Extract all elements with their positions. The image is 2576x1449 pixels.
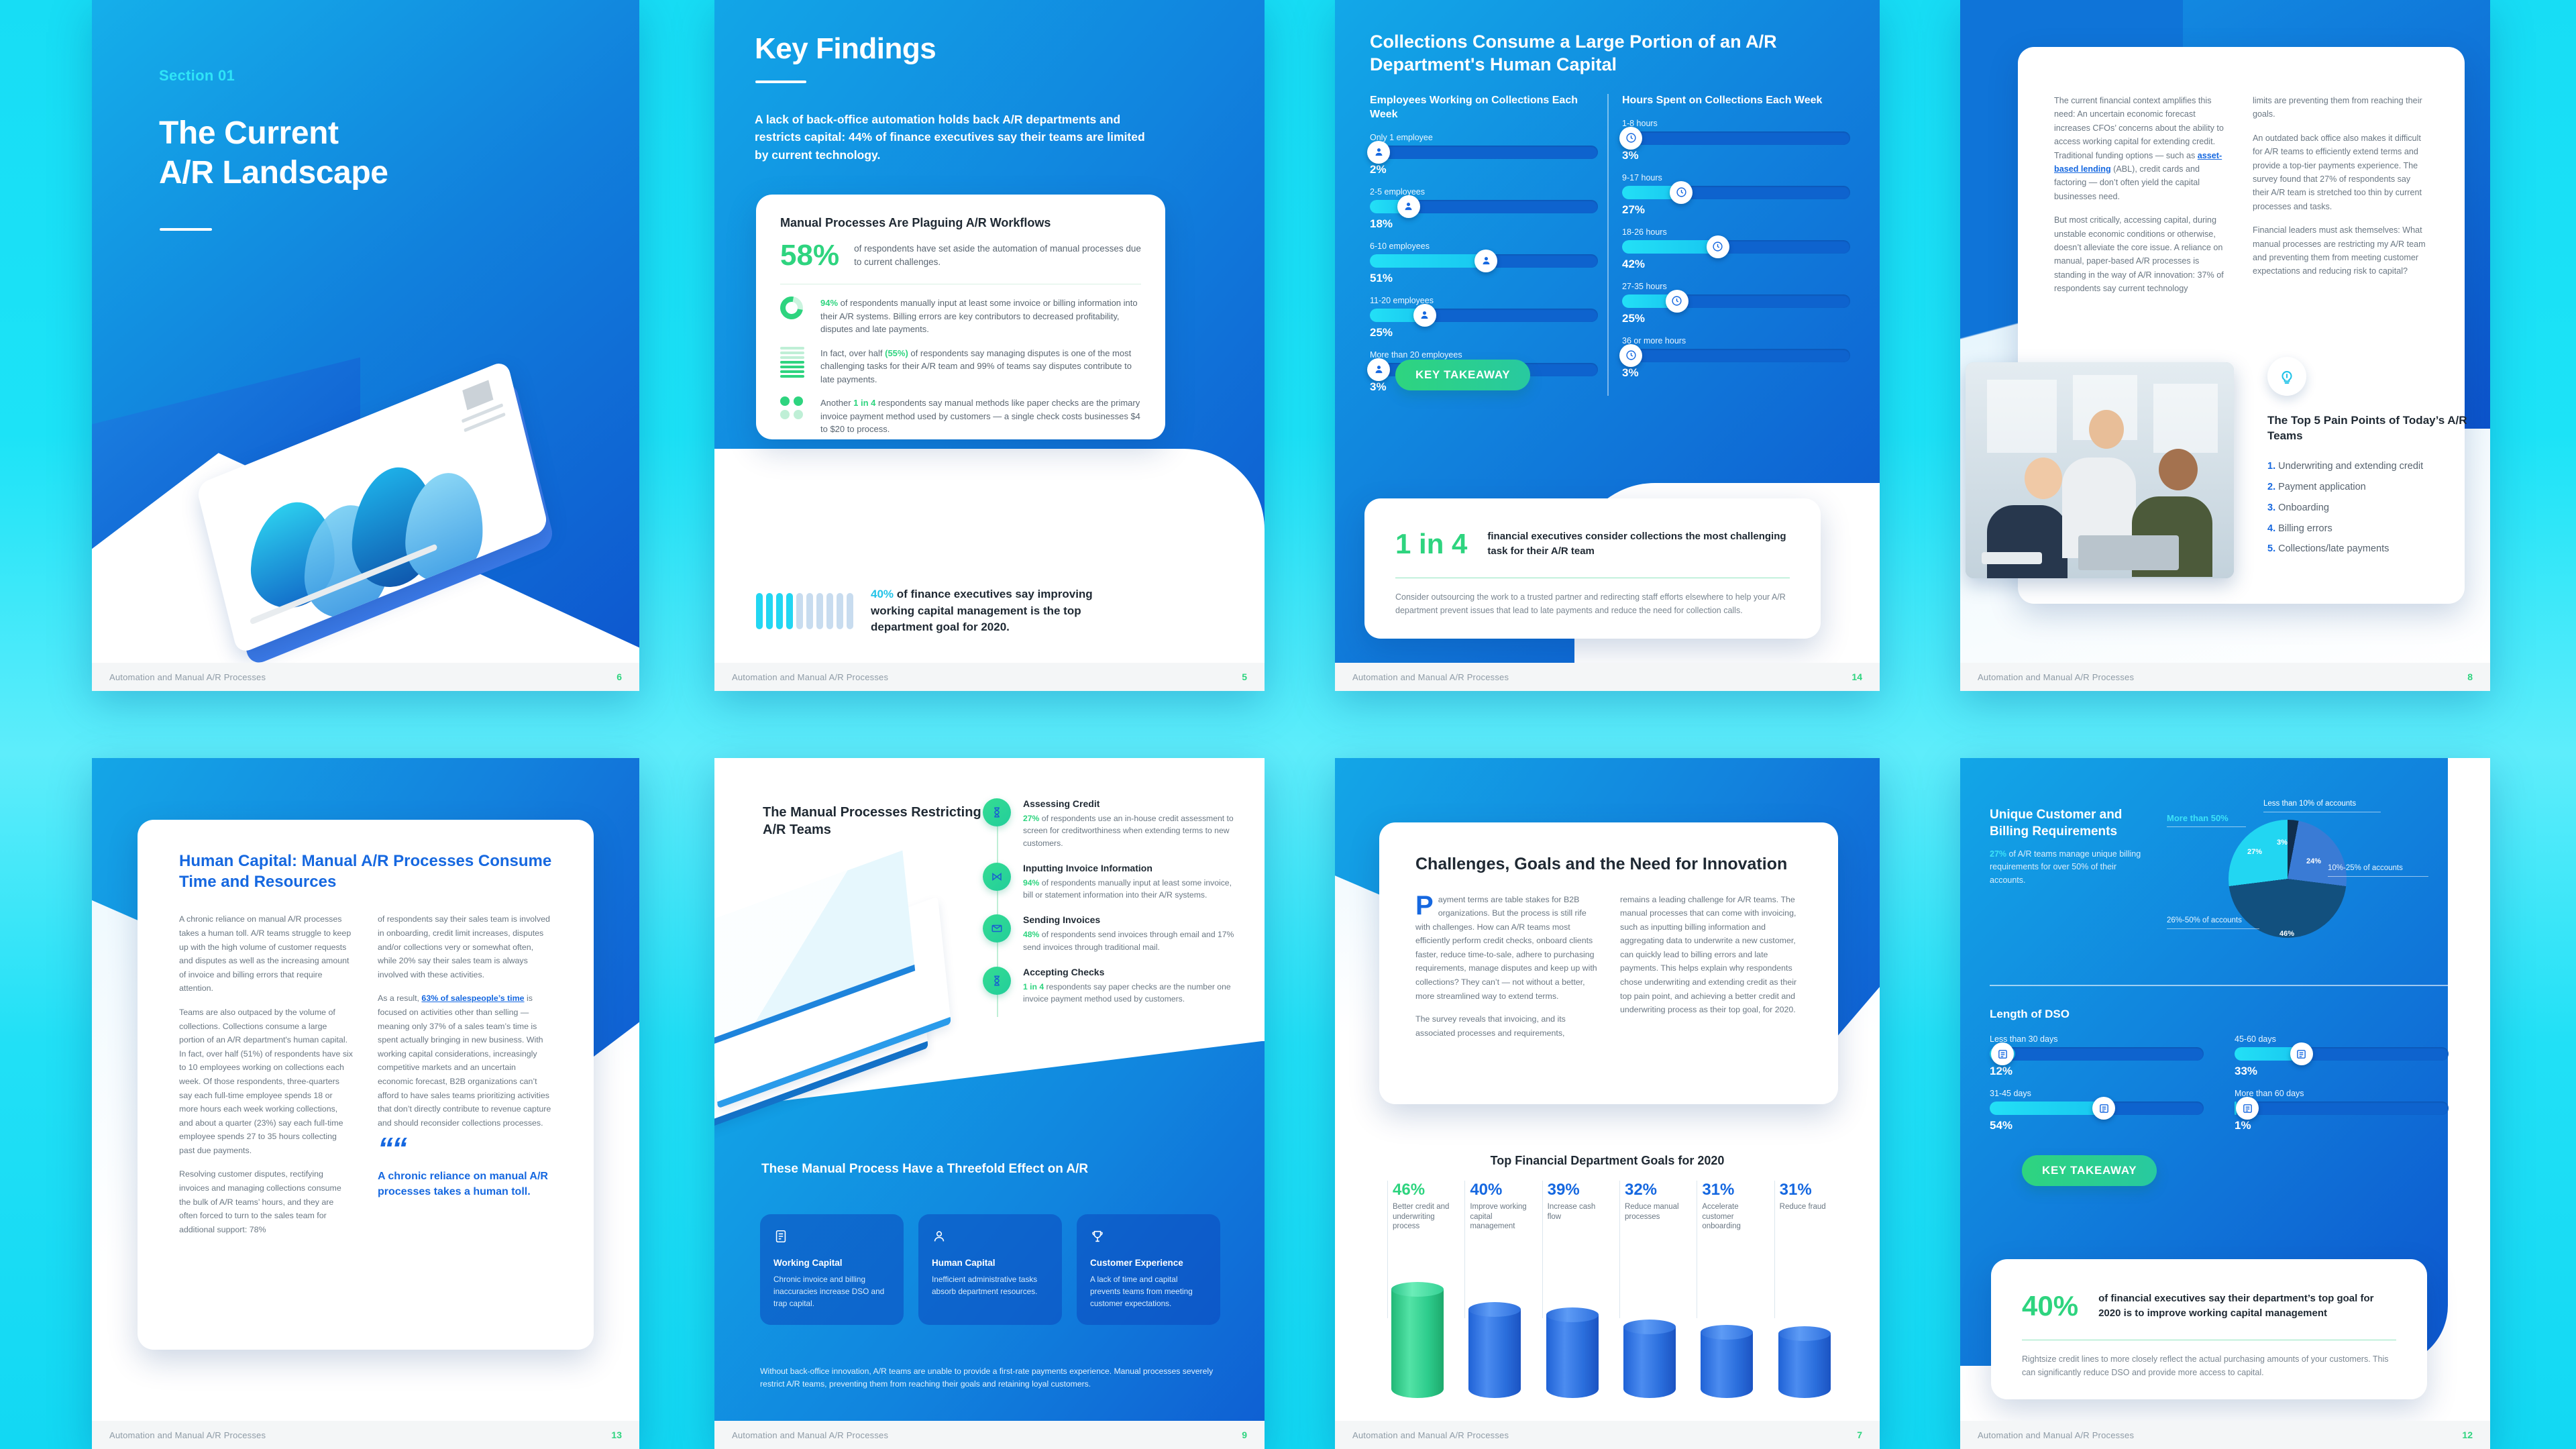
slider-label: 31-45 days	[1990, 1089, 2204, 1098]
takeaway-note: Rightsize credit lines to more closely r…	[2022, 1352, 2396, 1379]
process-step: Assessing Credit 27% of respondents use …	[983, 798, 1238, 849]
paragraph-prefix: As a result,	[378, 994, 421, 1003]
slider-track[interactable]	[1622, 349, 1850, 362]
lightbulb-icon	[2267, 357, 2306, 396]
list-item-label: Collections/late payments	[2278, 543, 2389, 554]
page-the-current-ar-landscape: Section 01 The Current A/R Landscape Aut…	[92, 0, 639, 691]
document-icon	[773, 1229, 890, 1247]
slider-row: More than 60 days 1%	[2235, 1089, 2449, 1132]
footer-label: Automation and Manual A/R Processes	[109, 672, 266, 682]
step-heading: Inputting Invoice Information	[1023, 863, 1238, 873]
key-findings-card: Manual Processes Are Plaguing A/R Workfl…	[756, 195, 1165, 439]
team-photo	[1966, 362, 2234, 578]
address-line-2	[464, 413, 505, 433]
body-column-1: The current financial context amplifies …	[2054, 94, 2230, 305]
slider-row: 45-60 days 33%	[2235, 1034, 2449, 1078]
effect-tiles: Working Capital Chronic invoice and bill…	[760, 1214, 1220, 1325]
footer-stat-highlight: 40%	[871, 588, 894, 600]
pie-value-26-50: 46%	[2279, 930, 2294, 938]
slider-value: 25%	[1370, 326, 1598, 339]
envelope-send-icon	[983, 914, 1011, 943]
footer-label: Automation and Manual A/R Processes	[732, 672, 888, 682]
slider-label: 2-5 employees	[1370, 187, 1598, 197]
page-human-capital: Human Capital: Manual A/R Processes Cons…	[92, 758, 639, 1449]
slider-track[interactable]	[2235, 1047, 2449, 1061]
page-footer: Automation and Manual A/R Processes 12	[1960, 1421, 2490, 1449]
effect-tile: Human Capital Inefficient administrative…	[918, 1214, 1062, 1325]
paragraph-rest: is focused on activities other than sell…	[378, 994, 551, 1127]
step-body: of respondents manually input at least s…	[1023, 878, 1232, 900]
slider-value: 1%	[2235, 1119, 2449, 1132]
headline-stat-text: of respondents have set aside the automa…	[854, 242, 1141, 270]
title-rule	[755, 80, 806, 83]
process-steps: Assessing Credit 27% of respondents use …	[983, 798, 1238, 1019]
page-footer: Automation and Manual A/R Processes 13	[92, 1421, 639, 1449]
bar-column: 39% Increase cash flow	[1542, 1181, 1605, 1402]
content-card: Human Capital: Manual A/R Processes Cons…	[138, 820, 594, 1350]
chart-title: Employees Working on Collections Each We…	[1370, 94, 1598, 122]
chart-title: Top Financial Department Goals for 2020	[1335, 1154, 1880, 1168]
bar-column: 40% Improve working capital management	[1464, 1181, 1527, 1402]
page-title: The Current A/R Landscape	[159, 114, 388, 193]
finding-item: 94% of respondents manually input at lea…	[780, 297, 1141, 336]
slider-value: 3%	[1622, 366, 1850, 380]
list-item: 1. Underwriting and extending credit	[2267, 460, 2489, 473]
section-divider	[1990, 985, 2449, 986]
page-unique-billing-requirements: Unique Customer and Billing Requirements…	[1960, 758, 2490, 1449]
step-highlight: 48%	[1023, 930, 1039, 939]
pie-graphic	[2229, 820, 2347, 938]
page-subtitle: 27% of A/R teams manage unique billing r…	[1990, 848, 2144, 887]
page-footer: Automation and Manual A/R Processes 7	[1335, 1421, 1880, 1449]
tile-title: Customer Experience	[1090, 1258, 1207, 1268]
step-heading: Sending Invoices	[1023, 914, 1238, 925]
page-title: The Manual Processes Restricting A/R Tea…	[763, 804, 984, 839]
slider-row: Only 1 employee 2%	[1370, 133, 1598, 176]
slider-label: 45-60 days	[2235, 1034, 2449, 1044]
body-paragraph: Financial leaders must ask themselves: W…	[2253, 223, 2428, 278]
bar-value: 31%	[1702, 1181, 1759, 1199]
slider-value: 51%	[1370, 272, 1598, 285]
body-column-1: Payment terms are table stakes for B2B o…	[1415, 893, 1597, 1050]
dso-column-right: 45-60 days 33% More than 60 days 1	[2235, 1034, 2449, 1132]
step-text: 27% of respondents use an in-house credi…	[1023, 812, 1238, 849]
key-takeaway-badge: KEY TAKEAWAY	[1395, 360, 1530, 390]
slider-value: 33%	[2235, 1065, 2449, 1078]
takeaway-row: 40% of financial executives say their de…	[2022, 1290, 2396, 1322]
list-item: 2. Payment application	[2267, 481, 2489, 494]
invoice-icon[interactable]	[1991, 1042, 2014, 1065]
list-item-label: Onboarding	[2278, 502, 2329, 513]
title-accent: Human Capital:	[179, 852, 297, 870]
bar-value: 40%	[1470, 1181, 1527, 1199]
step-body: respondents say paper checks are the num…	[1023, 982, 1231, 1004]
process-step: Accepting Checks 1 in 4 respondents say …	[983, 967, 1238, 1006]
person-icon	[932, 1229, 1049, 1247]
slider-track[interactable]	[1990, 1047, 2204, 1061]
footer-page-number: 13	[611, 1430, 622, 1440]
body-paragraph: Resolving customer disputes, rectifying …	[179, 1167, 354, 1236]
slider-label: 9-17 hours	[1622, 173, 1850, 182]
slider-label: More than 20 employees	[1370, 350, 1598, 360]
section-tag: Section 01	[159, 67, 235, 85]
page-footer: Automation and Manual A/R Processes 6	[92, 663, 639, 691]
pull-quote-text: A chronic reliance on manual A/R process…	[378, 1169, 552, 1199]
footer-label: Automation and Manual A/R Processes	[732, 1430, 888, 1440]
key-takeaway-card: 40% of financial executives say their de…	[1991, 1259, 2427, 1400]
slider-row: 2-5 employees 18%	[1370, 187, 1598, 231]
slider-value: 25%	[1622, 312, 1850, 325]
stamp-icon	[462, 380, 493, 410]
finding-text: In fact, over half (55%) of respondents …	[820, 347, 1141, 386]
slider-label: 11-20 employees	[1370, 296, 1598, 305]
slider-charts: Employees Working on Collections Each We…	[1370, 94, 1850, 394]
finding-prefix: In fact, over half	[820, 348, 885, 358]
slider-track[interactable]	[1370, 254, 1598, 268]
slider-row: 27-35 hours 25%	[1622, 282, 1850, 325]
data-entry-icon	[983, 863, 1011, 891]
quote-mark-icon: ““	[378, 1140, 552, 1159]
slider-row: 1-8 hours 3%	[1622, 119, 1850, 162]
slider-value: 2%	[1370, 163, 1598, 176]
footer-page-number: 8	[2467, 672, 2473, 682]
step-text: 1 in 4 respondents say paper checks are …	[1023, 981, 1238, 1006]
slider-label: 1-8 hours	[1622, 119, 1850, 128]
trophy-icon	[1090, 1229, 1207, 1247]
bar-column: 32% Reduce manual processes	[1619, 1181, 1682, 1402]
clock-icon[interactable]	[1707, 235, 1729, 258]
slider-value: 42%	[1622, 258, 1850, 271]
takeaway-row: 1 in 4 financial executives consider col…	[1395, 528, 1790, 560]
pain-points-list: 1. Underwriting and extending credit 2. …	[2267, 460, 2489, 563]
effect-tile: Working Capital Chronic invoice and bill…	[760, 1214, 904, 1325]
body-paragraph: Payment terms are table stakes for B2B o…	[1415, 893, 1597, 1004]
subtitle-highlight: 27%	[1990, 849, 2006, 859]
body-columns: The current financial context amplifies …	[2054, 94, 2428, 305]
page-footer: Automation and Manual A/R Processes 8	[1960, 663, 2490, 691]
page-title: Human Capital: Manual A/R Processes Cons…	[179, 851, 552, 892]
headline-stat-row: 58% of respondents have set aside the au…	[780, 241, 1141, 270]
step-heading: Accepting Checks	[1023, 967, 1238, 977]
slider-track[interactable]	[1370, 146, 1598, 159]
list-item: 3. Onboarding	[2267, 502, 2489, 515]
body-paragraph: The survey reveals that invoicing, and i…	[1415, 1012, 1597, 1040]
bar-value: 46%	[1393, 1181, 1450, 1199]
list-item-label: Billing errors	[2278, 523, 2332, 534]
clock-icon[interactable]	[1670, 181, 1693, 204]
key-takeaway-badge: KEY TAKEAWAY	[2022, 1155, 2157, 1186]
invoice-icon[interactable]	[2236, 1097, 2259, 1120]
card-heading: Manual Processes Are Plaguing A/R Workfl…	[780, 216, 1141, 230]
headline-stat-value: 58%	[780, 241, 839, 270]
page-title: Unique Customer and Billing Requirements	[1990, 806, 2137, 840]
donut-icon	[780, 297, 810, 336]
list-item: 4. Billing errors	[2267, 523, 2489, 535]
person-icon[interactable]	[1474, 250, 1497, 272]
slider-value: 27%	[1622, 203, 1850, 217]
slider-row: 31-45 days 54%	[1990, 1089, 2204, 1132]
bar-label: Better credit and underwriting process	[1393, 1202, 1450, 1232]
body-paragraph: of respondents say their sales team is i…	[378, 912, 552, 981]
subtitle-text: of A/R teams manage unique billing requi…	[1990, 849, 2141, 885]
body-columns: A chronic reliance on manual A/R process…	[179, 912, 552, 1246]
drop-cap: P	[1415, 893, 1438, 916]
tile-title: Working Capital	[773, 1258, 890, 1268]
bar-value: 31%	[1780, 1181, 1837, 1199]
page-lede: A lack of back-office automation holds b…	[755, 111, 1157, 164]
slider-track[interactable]	[1370, 200, 1598, 213]
footer-page-number: 5	[1242, 672, 1247, 682]
body-paragraph: An outdated back office also makes it di…	[2253, 131, 2428, 213]
step-highlight: 27%	[1023, 814, 1039, 823]
footer-label: Automation and Manual A/R Processes	[1352, 1430, 1509, 1440]
slider-track[interactable]	[1990, 1102, 2204, 1115]
takeaway-text: financial executives consider collection…	[1487, 529, 1790, 559]
body-paragraph: A chronic reliance on manual A/R process…	[179, 912, 354, 996]
step-highlight: 1 in 4	[1023, 982, 1044, 991]
check-envelope-illustration	[714, 885, 989, 1107]
stacked-bars-icon	[780, 347, 810, 386]
body-paragraph: Teams are also outpaced by the volume of…	[179, 1006, 354, 1158]
takeaway-note: Consider outsourcing the work to a trust…	[1395, 590, 1790, 617]
body-column-2: remains a leading challenge for A/R team…	[1620, 893, 1802, 1050]
bottom-note: Without back-office innovation, A/R team…	[760, 1365, 1220, 1391]
slider-row: 6-10 employees 51%	[1370, 241, 1598, 285]
footer-label: Automation and Manual A/R Processes	[109, 1430, 266, 1440]
slider-value: 3%	[1622, 149, 1850, 162]
slider-label: Less than 30 days	[1990, 1034, 2204, 1044]
tile-title: Human Capital	[932, 1258, 1049, 1268]
pie-label-more-than-50: More than 50%	[2167, 813, 2229, 823]
footer-stat-block: 40% of finance executives say improving …	[756, 586, 1106, 636]
page-key-findings: Key Findings A lack of back-office autom…	[714, 0, 1265, 691]
takeaway-divider	[2022, 1340, 2396, 1341]
step-body: of respondents use an in-house credit as…	[1023, 814, 1234, 848]
finding-prefix: Another	[820, 398, 853, 408]
content-card: The current financial context amplifies …	[2018, 47, 2465, 604]
person-icon[interactable]	[1413, 304, 1436, 327]
slider-value: 18%	[1370, 217, 1598, 231]
list-item-label: Underwriting and extending credit	[2278, 461, 2423, 472]
card-divider	[780, 284, 1141, 284]
four-dots-icon	[780, 396, 810, 436]
finding-item: In fact, over half (55%) of respondents …	[780, 347, 1141, 386]
bar-label: Increase cash flow	[1548, 1202, 1605, 1222]
footer-page-number: 14	[1851, 672, 1862, 682]
pie-value-less-than-10: 3%	[2277, 839, 2288, 847]
clock-icon[interactable]	[1619, 344, 1642, 367]
step-highlight: 94%	[1023, 878, 1039, 888]
paragraph-text: ayment terms are table stakes for B2B or…	[1415, 895, 1597, 1001]
takeaway-divider	[1395, 578, 1790, 579]
envelope-illustration	[199, 386, 575, 627]
page-title: Challenges, Goals and the Need for Innov…	[1415, 853, 1802, 875]
bar-column: 31% Accelerate customer onboarding	[1697, 1181, 1759, 1402]
asset-based-lending-link[interactable]: asset-based lending	[2054, 151, 2222, 174]
finding-text: Another 1 in 4 respondents say manual me…	[820, 396, 1141, 436]
person-icon[interactable]	[1367, 358, 1390, 381]
slider-track[interactable]	[1622, 131, 1850, 145]
person-icon[interactable]	[1367, 141, 1390, 164]
bar-label: Improve working capital management	[1470, 1202, 1527, 1232]
effect-tile: Customer Experience A lack of time and c…	[1077, 1214, 1220, 1325]
dso-column-left: Less than 30 days 12% 31-45 days 5	[1990, 1034, 2204, 1132]
page-title: Key Findings	[755, 32, 936, 66]
footer-page-number: 12	[2462, 1430, 2473, 1440]
slider-value: 54%	[1990, 1119, 2204, 1132]
tile-text: Inefficient administrative tasks absorb …	[932, 1274, 1049, 1298]
page-title: Collections Consume a Large Portion of a…	[1370, 31, 1826, 76]
slider-track[interactable]	[2235, 1102, 2449, 1115]
takeaway-stat: 1 in 4	[1395, 528, 1467, 560]
takeaway-stat: 40%	[2022, 1290, 2078, 1322]
page-footer: Automation and Manual A/R Processes 14	[1335, 663, 1880, 691]
segmented-bar-chart	[756, 593, 853, 629]
finding-highlight: 1 in 4	[853, 398, 875, 408]
finding-item: Another 1 in 4 respondents say manual me…	[780, 396, 1141, 436]
page-manual-processes-restricting: The Manual Processes Restricting A/R Tea…	[714, 758, 1265, 1449]
body-paragraph: But most critically, accessing capital, …	[2054, 213, 2230, 295]
slider-track[interactable]	[1370, 309, 1598, 322]
invoice-icon[interactable]	[2290, 1042, 2313, 1065]
list-item-label: Payment application	[2278, 482, 2366, 492]
footer-stat-body: of finance executives say improving work…	[871, 588, 1093, 633]
tile-text: Chronic invoice and billing inaccuracies…	[773, 1274, 890, 1310]
body-column-2: of respondents say their sales team is i…	[378, 912, 552, 1246]
finding-body: of respondents manually input at least s…	[820, 298, 1138, 334]
slider-label: 18-26 hours	[1622, 227, 1850, 237]
pull-quote: ““ A chronic reliance on manual A/R proc…	[378, 1140, 552, 1199]
process-step: Sending Invoices 48% of respondents send…	[983, 914, 1238, 953]
pie-label-less-than-10: Less than 10% of accounts	[2263, 800, 2356, 808]
page-title-line1: The Current	[159, 114, 388, 154]
step-body: of respondents send invoices through ema…	[1023, 930, 1234, 951]
pie-label-10-25: 10%-25% of accounts	[2328, 864, 2403, 872]
page-challenges-goals: Challenges, Goals and the Need for Innov…	[1335, 758, 1880, 1449]
footer-label: Automation and Manual A/R Processes	[1978, 1430, 2134, 1440]
pie-chart: Less than 10% of accounts 3% 10%-25% of …	[2148, 797, 2443, 965]
finding-highlight: (55%)	[885, 348, 908, 358]
page-collections-human-capital: Collections Consume a Large Portion of a…	[1335, 0, 1880, 691]
tile-text: A lack of time and capital prevents team…	[1090, 1274, 1207, 1310]
finding-highlight: 94%	[820, 298, 838, 308]
bar-label: Reduce manual processes	[1625, 1202, 1682, 1222]
body-paragraph: The current financial context amplifies …	[2054, 94, 2230, 203]
footer-page-number: 9	[1242, 1430, 1247, 1440]
slider-value: 12%	[1990, 1065, 2204, 1078]
body-column-1: A chronic reliance on manual A/R process…	[179, 912, 354, 1246]
bar-column: 31% Reduce fraud	[1774, 1181, 1837, 1402]
footer-label: Automation and Manual A/R Processes	[1352, 672, 1509, 682]
slider-track[interactable]	[1622, 294, 1850, 308]
finding-text: 94% of respondents manually input at lea…	[820, 297, 1141, 336]
document-spread: Section 01 The Current A/R Landscape Aut…	[0, 0, 2576, 1449]
page-top-5-pain-points: The current financial context amplifies …	[1960, 0, 2490, 691]
step-text: 48% of respondents send invoices through…	[1023, 928, 1238, 953]
bar-column: 46% Better credit and underwriting proce…	[1387, 1181, 1450, 1402]
slider-row: 36 or more hours 3%	[1622, 336, 1850, 380]
dso-heading: Length of DSO	[1990, 1008, 2070, 1021]
body-paragraph: limits are preventing them from reaching…	[2253, 94, 2428, 121]
slider-row: 11-20 employees 25%	[1370, 296, 1598, 339]
slider-label: Only 1 employee	[1370, 133, 1598, 142]
list-item: 5. Collections/late payments	[2267, 543, 2489, 555]
slider-label: More than 60 days	[2235, 1089, 2449, 1098]
bar-label: Reduce fraud	[1780, 1202, 1837, 1212]
content-card: Challenges, Goals and the Need for Innov…	[1379, 822, 1838, 1104]
body-columns: Payment terms are table stakes for B2B o…	[1415, 893, 1802, 1050]
slider-track[interactable]	[1622, 240, 1850, 254]
clock-icon[interactable]	[1666, 290, 1688, 313]
threefold-heading: These Manual Process Have a Threefold Ef…	[761, 1161, 1088, 1177]
step-heading: Assessing Credit	[1023, 798, 1238, 809]
salespeople-time-link[interactable]: 63% of salespeople’s time	[421, 994, 524, 1003]
takeaway-text: of financial executives say their depart…	[2098, 1291, 2396, 1321]
step-text: 94% of respondents manually input at lea…	[1023, 877, 1238, 902]
footer-page-number: 6	[616, 672, 622, 682]
footer-page-number: 7	[1857, 1430, 1862, 1440]
key-takeaway-card: 1 in 4 financial executives consider col…	[1364, 498, 1821, 639]
pie-value-10-25: 24%	[2306, 857, 2321, 865]
hourglass-icon	[983, 967, 1011, 995]
cylinder-bar-chart: 46% Better credit and underwriting proce…	[1387, 1181, 1837, 1402]
bar-value: 39%	[1548, 1181, 1605, 1199]
body-column-2: limits are preventing them from reaching…	[2253, 94, 2428, 305]
footer-label: Automation and Manual A/R Processes	[1978, 672, 2134, 682]
clock-icon[interactable]	[1619, 127, 1642, 150]
body-paragraph: remains a leading challenge for A/R team…	[1620, 893, 1802, 1017]
slider-row: 9-17 hours 27%	[1622, 173, 1850, 217]
invoice-icon[interactable]	[2092, 1097, 2115, 1120]
chart-hours-spent: Hours Spent on Collections Each Week 1-8…	[1622, 94, 1850, 394]
page-title-line2: A/R Landscape	[159, 154, 388, 193]
pie-value-more-than-50: 27%	[2247, 848, 2262, 856]
slider-label: 27-35 hours	[1622, 282, 1850, 291]
pie-label-26-50: 26%-50% of accounts	[2167, 916, 2242, 924]
bar-label: Accelerate customer onboarding	[1702, 1202, 1759, 1232]
hourglass-icon	[983, 798, 1011, 826]
pain-points-heading: The Top 5 Pain Points of Today’s A/R Tea…	[2267, 413, 2469, 444]
person-icon[interactable]	[1397, 195, 1420, 218]
slider-label: 36 or more hours	[1622, 336, 1850, 345]
dso-sliders: Less than 30 days 12% 31-45 days 5	[1990, 1034, 2449, 1132]
body-paragraph: As a result, 63% of salespeople’s time i…	[378, 991, 552, 1130]
slider-row: Less than 30 days 12%	[1990, 1034, 2204, 1078]
title-rule	[160, 228, 212, 231]
chart-title: Hours Spent on Collections Each Week	[1622, 94, 1850, 108]
page-footer: Automation and Manual A/R Processes 9	[714, 1421, 1265, 1449]
slider-track[interactable]	[1622, 186, 1850, 199]
chart-employees-working: Employees Working on Collections Each We…	[1370, 94, 1598, 394]
page-footer: Automation and Manual A/R Processes 5	[714, 663, 1265, 691]
slider-row: 18-26 hours 42%	[1622, 227, 1850, 271]
bar-value: 32%	[1625, 1181, 1682, 1199]
footer-stat-text: 40% of finance executives say improving …	[871, 586, 1106, 636]
process-step: Inputting Invoice Information 94% of res…	[983, 863, 1238, 902]
